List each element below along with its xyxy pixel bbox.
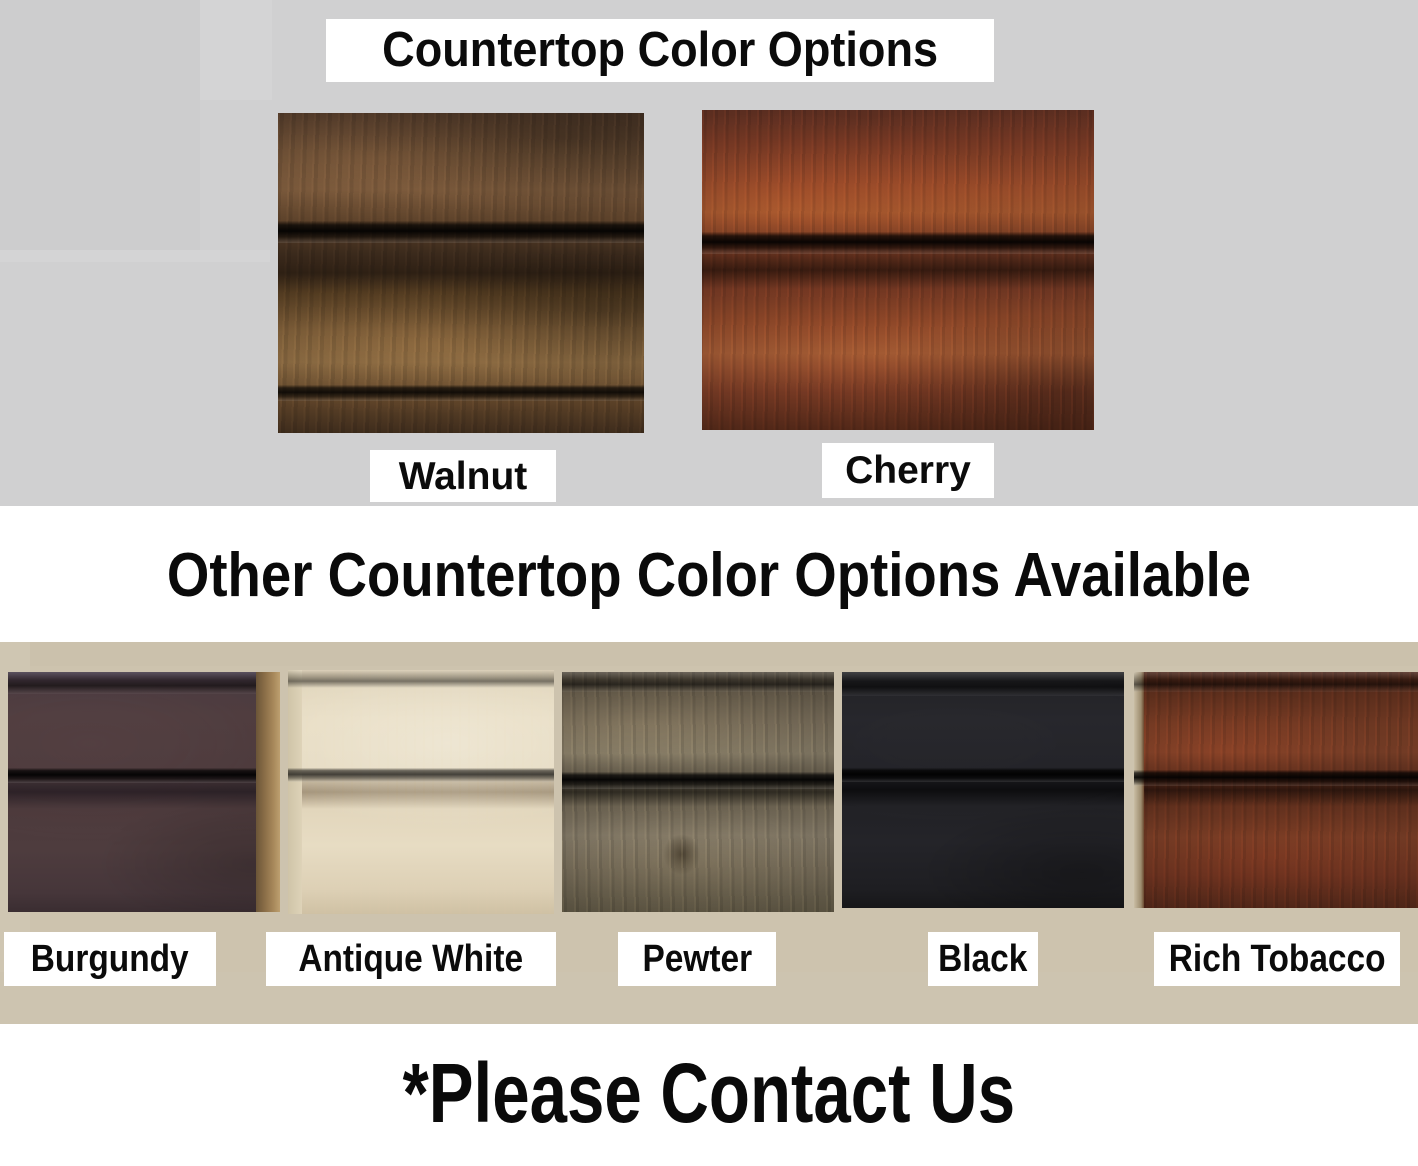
- panel-tone-block-a: [0, 0, 200, 250]
- panel-tone-block-b: [200, 0, 272, 100]
- black-groove: [842, 768, 1124, 782]
- swatch-label-walnut: Walnut: [370, 450, 556, 502]
- burgundy-groove: [8, 768, 280, 783]
- footer-note: *Please Contact Us: [0, 1045, 1418, 1141]
- antique-white-raw-edge: [288, 670, 302, 914]
- swatch-label-pewter: Pewter: [618, 932, 776, 986]
- swatch-cherry[interactable]: [702, 110, 1094, 430]
- rich-tobacco-groove: [1134, 770, 1418, 786]
- swatch-label-black: Black: [928, 932, 1038, 986]
- antique-white-wood-grain: [288, 670, 554, 914]
- panel-tone-block-c: [0, 250, 270, 262]
- walnut-groove-lower: [278, 385, 644, 401]
- burgundy-top-edge: [8, 672, 280, 694]
- page-title-text: Countertop Color Options: [382, 26, 938, 75]
- black-top-edge: [842, 672, 1124, 696]
- pewter-top-edge: [562, 672, 834, 692]
- antique-white-top-edge: [288, 670, 554, 688]
- subheading: Other Countertop Color Options Available: [0, 540, 1418, 612]
- swatch-pewter[interactable]: [562, 672, 834, 912]
- subheading-text: Other Countertop Color Options Available: [167, 545, 1251, 607]
- cherry-groove: [702, 232, 1094, 254]
- page-title: Countertop Color Options: [326, 19, 994, 82]
- black-wood-grain: [842, 672, 1124, 908]
- footer-note-text: *Please Contact Us: [403, 1051, 1016, 1135]
- swatch-black[interactable]: [842, 672, 1124, 908]
- pewter-wood-grain: [562, 672, 834, 912]
- swatch-burgundy[interactable]: [8, 672, 280, 912]
- swatch-antique-white[interactable]: [288, 670, 554, 914]
- swatch-label-cherry-text: Cherry: [845, 451, 971, 490]
- swatch-label-black-text: Black: [938, 940, 1027, 978]
- swatch-label-pewter-text: Pewter: [642, 940, 752, 978]
- swatch-label-rich-tobacco: Rich Tobacco: [1154, 932, 1400, 986]
- swatch-label-antique-white-text: Antique White: [299, 940, 524, 978]
- burgundy-raw-edge: [256, 672, 280, 912]
- antique-white-groove: [288, 768, 554, 782]
- swatch-label-burgundy: Burgundy: [4, 932, 216, 986]
- swatch-label-burgundy-text: Burgundy: [31, 940, 189, 978]
- walnut-groove-upper: [278, 221, 644, 243]
- burgundy-wood-grain: [8, 672, 280, 912]
- swatch-label-cherry: Cherry: [822, 443, 994, 498]
- swatch-rich-tobacco[interactable]: [1134, 672, 1418, 908]
- beige-tone-top: [0, 642, 1418, 666]
- rich-tobacco-top-edge: [1134, 672, 1418, 692]
- swatch-walnut[interactable]: [278, 113, 644, 433]
- swatch-label-walnut-text: Walnut: [399, 457, 528, 496]
- countertop-color-options-page: Countertop Color Options Walnut Cherry O…: [0, 0, 1418, 1166]
- pewter-groove: [562, 772, 834, 789]
- rich-tobacco-wood-grain: [1134, 672, 1418, 908]
- swatch-label-antique-white: Antique White: [266, 932, 556, 986]
- cherry-wood-grain: [702, 110, 1094, 430]
- swatch-label-rich-tobacco-text: Rich Tobacco: [1169, 940, 1386, 978]
- rich-tobacco-raw-edge: [1134, 672, 1144, 908]
